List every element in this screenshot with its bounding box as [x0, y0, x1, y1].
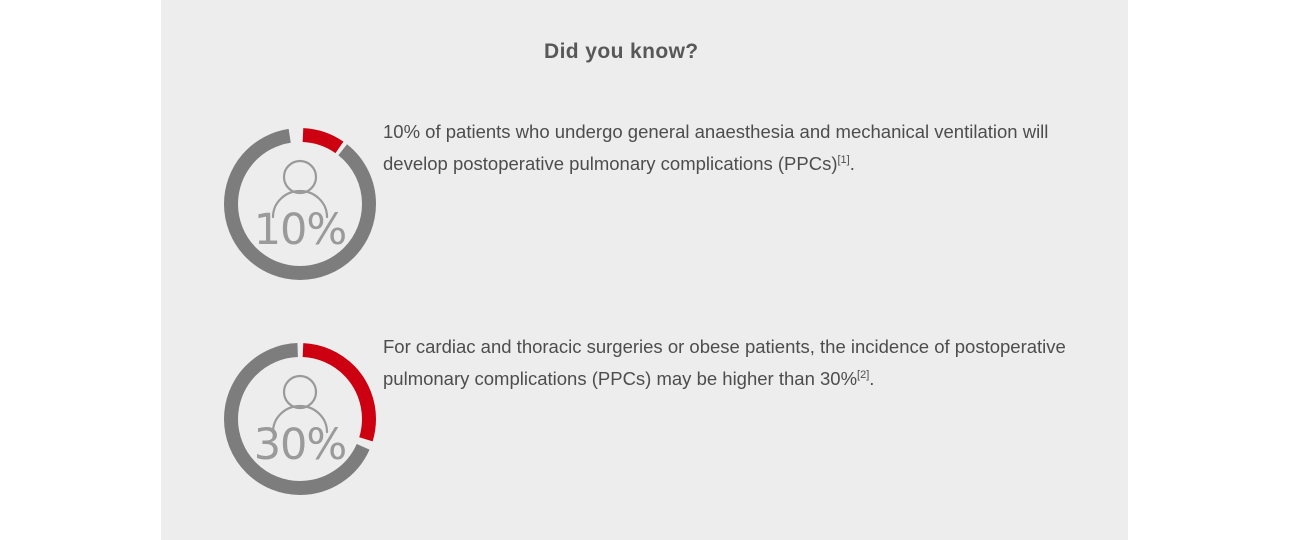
- info-panel: Did you know? 10% 10% of patients who un…: [161, 0, 1128, 540]
- citation-marker-2: [2]: [857, 369, 869, 381]
- donut-chart-10-svg: [209, 113, 391, 295]
- page-title: Did you know?: [544, 40, 699, 64]
- fact-text-1-body: 10% of patients who undergo general anae…: [383, 121, 1048, 174]
- donut-chart-10: 10%: [209, 113, 391, 295]
- fact-text-2-tail: .: [869, 368, 874, 389]
- donut-center-label: 30%: [209, 424, 391, 467]
- fact-text-1: 10% of patients who undergo general anae…: [383, 116, 1083, 180]
- fact-text-2-body: For cardiac and thoracic surgeries or ob…: [383, 336, 1066, 389]
- donut-chart-30: 30%: [209, 328, 391, 510]
- fact-text-1-tail: .: [850, 153, 855, 174]
- citation-marker-1: [1]: [838, 154, 850, 166]
- donut-chart-30-svg: [209, 328, 391, 510]
- fact-text-2: For cardiac and thoracic surgeries or ob…: [383, 331, 1083, 395]
- donut-center-label: 10%: [209, 209, 391, 252]
